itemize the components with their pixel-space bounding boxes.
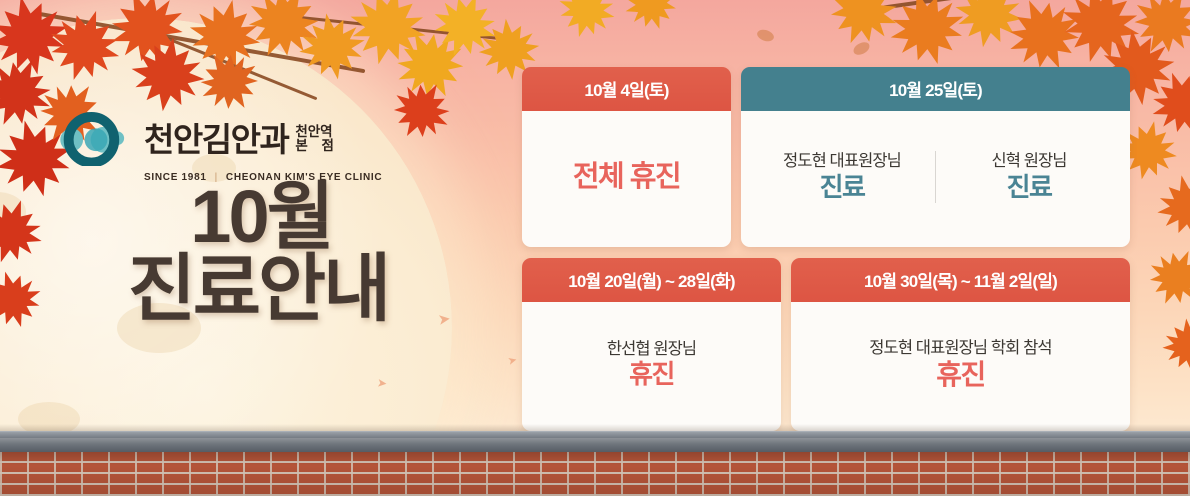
maple-leaf-icon (614, 0, 687, 40)
clinic-branch: 천안역 본 점 (295, 125, 339, 155)
flying-bird-silhouette-icon: ➤ (376, 377, 387, 390)
schedule-card-oct-30-nov-2[interactable]: 10월 30일(목) ~ 11월 2일(일) 정도현 대표원장님 학회 참석 휴… (791, 258, 1130, 431)
doctor-name: 한선협 원장님 (536, 339, 767, 360)
page-title-line-2: 진료안내 (58, 255, 458, 323)
schedule-card-date: 10월 4일(토) (522, 67, 731, 111)
status-badge: 전체 휴진 (536, 161, 717, 194)
schedule-card-row-2: 10월 20일(월) ~ 28일(화) 한선협 원장님 휴진 10월 30일(목… (522, 258, 1130, 431)
page-title-line-1: 10월 (58, 183, 458, 251)
maple-leaf-icon (1157, 313, 1190, 377)
schedule-card-date: 10월 30일(목) ~ 11월 2일(일) (791, 258, 1130, 302)
page-title: 10월 진료안내 (58, 183, 458, 323)
maple-leaf-icon (1148, 166, 1190, 247)
schedule-entry: 정도현 대표원장님 진료 (749, 151, 935, 203)
clinic-name-ko: 천안김안과 (144, 123, 288, 156)
schedule-entry: 정도현 대표원장님 학회 참석 휴진 (799, 338, 1122, 392)
maple-leaf-icon (755, 27, 775, 45)
doctor-name: 신혁 원장님 (942, 151, 1116, 172)
maple-leaf-icon (1136, 236, 1190, 318)
schedule-card-oct-25[interactable]: 10월 25일(토) 정도현 대표원장님 진료 신혁 원장님 진료 (741, 67, 1130, 247)
status-badge: 휴진 (805, 359, 1116, 391)
doctor-name: 정도현 대표원장님 (755, 151, 929, 172)
schedule-card-body: 정도현 대표원장님 진료 신혁 원장님 진료 (741, 111, 1130, 247)
schedule-card-row-1: 10월 4일(토) 전체 휴진 10월 25일(토) 정도현 대표원장님 진료 … (522, 67, 1130, 247)
clinic-schedule-banner: ➤ ➤ ➤ (0, 0, 1190, 496)
schedule-card-body: 전체 휴진 (522, 111, 731, 247)
hanok-wall (0, 424, 1190, 496)
schedule-entry: 신혁 원장님 진료 (935, 151, 1122, 203)
clinic-c-logo-icon (58, 112, 134, 166)
schedule-card-date: 10월 25일(토) (741, 67, 1130, 111)
status-badge: 진료 (942, 173, 1116, 203)
schedule-card-oct-4[interactable]: 10월 4일(토) 전체 휴진 (522, 67, 731, 247)
schedule-card-date: 10월 20일(월) ~ 28일(화) (522, 258, 781, 302)
schedule-card-body: 한선협 원장님 휴진 (522, 302, 781, 431)
branch-line-2: 본 점 (295, 139, 339, 153)
brick-wall (0, 452, 1190, 496)
status-badge: 휴진 (536, 360, 767, 390)
schedule-entry: 전체 휴진 (530, 160, 723, 194)
status-badge: 진료 (755, 173, 929, 203)
schedule-card-body: 정도현 대표원장님 학회 참석 휴진 (791, 302, 1130, 431)
schedule-card-grid: 10월 4일(토) 전체 휴진 10월 25일(토) 정도현 대표원장님 진료 … (522, 67, 1130, 442)
schedule-entry: 한선협 원장님 휴진 (530, 339, 773, 391)
clinic-brand: 천안김안과 천안역 본 점 SINCE 1981 | CHEONAN KIM'S… (58, 112, 418, 183)
flying-bird-silhouette-icon: ➤ (507, 355, 519, 368)
schedule-card-oct-20-28[interactable]: 10월 20일(월) ~ 28일(화) 한선협 원장님 휴진 (522, 258, 781, 431)
maple-leaf-icon (549, 0, 626, 47)
doctor-name: 정도현 대표원장님 학회 참석 (805, 338, 1116, 359)
